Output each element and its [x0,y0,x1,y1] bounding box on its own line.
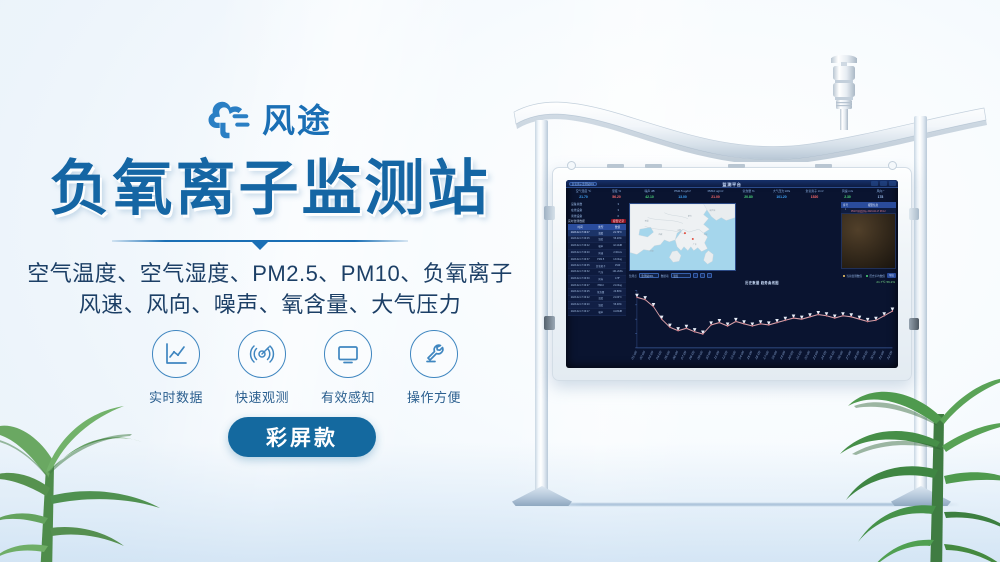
svg-text:32:00: 32:00 [886,350,893,361]
svg-text:31:00: 31:00 [878,350,885,361]
poster-canvas: 风途 负氧离子监测站 空气温度、空气湿度、PM2.5、PM10、负氧离子 风速、… [0,0,1000,562]
svg-text:19:00: 19:00 [779,350,786,361]
svg-text:28:00: 28:00 [854,350,861,361]
feature-label: 实时数据 [140,387,212,406]
metric-select[interactable]: 温度 [671,273,691,278]
fullscreen-icon[interactable] [889,181,896,186]
hinge-top [544,206,555,220]
chart-legend: 当前监测数值 历史平均数值 [843,274,885,278]
svg-text:22:00: 22:00 [804,350,811,361]
svg-text:05:00: 05:00 [664,350,671,361]
realtime-data-table[interactable]: 实时监测数据 报警记录 时间 类型 数值 2023-02-17 09:47温度2… [568,219,626,316]
stat-row: 离线设备 0 [571,214,619,218]
kpi-label: PM2.5 ug/m³ [667,189,698,193]
kpi-label: 氧含量 % [733,189,764,193]
left-text-panel: 风途 负氧离子监测站 空气温度、空气湿度、PM2.5、PM10、负氧离子 风速、… [0,0,540,562]
monitoring-station-kiosk: 负氧离子监测站001 监测平台 空气温度 ℃ 21.70 湿度 % 5 [500,0,1000,562]
latch-bottom [909,318,919,330]
stat-value: 3 [617,202,619,206]
dashboard-title: 监测平台 [566,182,898,188]
dashboard-ui: 负氧离子监测站001 监测平台 空气温度 ℃ 21.70 湿度 % 5 [566,180,898,368]
kpi-value: 20.80 [733,195,764,199]
svg-text:11:00: 11:00 [714,350,720,361]
kpi-card: 风速 m/s 2.30 [832,189,863,199]
settings-icon[interactable] [871,181,878,186]
brand-lockup: 风途 [0,100,540,140]
kpi-card: PM10 ug/m³ 21.00 [700,189,731,199]
svg-text:21:00: 21:00 [796,350,803,361]
svg-text:08:00: 08:00 [689,350,696,361]
table-row[interactable]: 2023-02-17 09:30风向178° [568,276,626,283]
svg-text:06:00: 06:00 [672,350,679,361]
table-caption-text: 实时监测数据 [568,219,585,223]
table-row[interactable]: 2023-02-17 09:42噪声42.10dB [568,243,626,250]
vent-slot [645,164,662,168]
svg-text:13:00: 13:00 [730,350,737,361]
stat-value: 0 [617,214,619,218]
svg-text:27:00: 27:00 [845,350,852,361]
device-stats: 设备总数 3 在线设备 3 离线设备 0 [571,202,619,221]
kpi-value: 21.70 [568,195,599,199]
range-week-button[interactable] [700,273,705,278]
subtitle-block: 空气温度、空气湿度、PM2.5、PM10、负氧离子 风速、风向、噪声、氧含量、大… [0,258,540,320]
kpi-value: 1520 [799,195,830,199]
svg-text:07:00: 07:00 [680,350,687,361]
kpi-card: 湿度 % 56.20 [601,189,632,199]
kpi-label: 负氧离子 /cm³ [799,189,830,193]
kpi-card: 风向 ° 178 [865,189,896,199]
svg-text:30:00: 30:00 [870,350,877,361]
vent-slot [728,164,745,168]
kpi-card: 大气压力 kPa 101.20 [766,189,797,199]
subtitle-line-1: 空气温度、空气湿度、PM2.5、PM10、负氧离子 [27,261,513,286]
legend-item-current: 当前监测数值 [843,274,862,278]
header-tools [871,181,896,186]
kpi-value: 56.20 [601,195,632,199]
kpi-card: 负氧离子 /cm³ 1520 [799,189,830,199]
svg-text:18:00: 18:00 [771,350,778,361]
svg-text:09:00: 09:00 [697,350,704,361]
alarm-badge[interactable]: 报警记录 [611,219,626,223]
table-caption: 实时监测数据 报警记录 [568,219,626,223]
svg-text:24:00: 24:00 [821,350,828,361]
control-label-right: 数据项 [661,274,669,278]
camera-snapshot[interactable] [841,213,896,269]
feature-item-easy-operation[interactable]: 操作方便 [398,330,470,406]
stat-label: 在线设备 [571,208,582,212]
mount-lug-right [888,161,897,170]
stat-row: 设备总数 3 [571,202,619,206]
kpi-card: 空气温度 ℃ 21.70 [568,189,599,199]
lcd-screen[interactable]: 负氧离子监测站001 监测平台 空气温度 ℃ 21.70 湿度 % 5 [566,180,898,368]
svg-text:14:00: 14:00 [738,350,745,361]
svg-text:16:00: 16:00 [755,350,762,361]
feature-label: 有效感知 [312,387,384,406]
svg-text:12:00: 12:00 [722,350,729,361]
table-row[interactable]: 2023-02-17 09:40风速2.30m/s [568,250,626,257]
kpi-label: 风速 m/s [832,189,863,193]
kpi-card: PM2.5 ug/m³ 13.00 [667,189,698,199]
kpi-label: 风向 ° [865,189,896,193]
feature-label: 操作方便 [398,387,470,406]
title-divider [112,240,408,242]
svg-text:26:00: 26:00 [837,350,844,361]
user-icon[interactable] [880,181,887,186]
table-row[interactable]: 2023-02-17 09:20湿度56.00% [568,302,626,309]
history-trend-chart: 历史数据 趋势曲线图 21.7℃ 56.2% 01:0002:0003:0004… [628,280,896,367]
wrench-icon [410,330,458,378]
right-post [914,116,927,502]
kpi-row: 空气温度 ℃ 21.70 湿度 % 56.20 噪声 dB 42.10 PM2.… [568,189,896,199]
stat-label: 离线设备 [571,214,582,218]
svg-text:15:00: 15:00 [746,350,753,361]
chart-plot: 01:0002:0003:0004:0005:0006:0007:0008:00… [628,285,896,367]
svg-text:10:00: 10:00 [705,350,712,361]
export-button[interactable]: 导出 [887,273,896,278]
legend-item-average: 历史平均数值 [866,274,885,278]
china-asia-region-map[interactable]: 蒙古中国 西藏日本 广东印度 新疆俄罗斯 [629,203,736,271]
left-post [535,120,548,502]
svg-text:17:00: 17:00 [763,350,770,361]
brand-name: 风途 [262,104,332,137]
kpi-value: 2.30 [832,195,863,199]
page-title: 负氧离子监测站 [0,155,540,222]
feature-item-effective-sensing[interactable]: 有效感知 [312,330,384,406]
monitor-display-icon [324,330,372,378]
svg-text:02:00: 02:00 [639,350,646,361]
svg-text:20:00: 20:00 [788,350,795,361]
mount-lug-left [567,161,576,170]
svg-text:23:00: 23:00 [812,350,819,361]
kpi-label: 噪声 dB [634,189,665,193]
feature-label: 快速观测 [226,387,298,406]
right-base-plate [891,486,951,506]
svg-text:03:00: 03:00 [648,350,655,361]
kpi-label: 湿度 % [601,189,632,193]
station-select[interactable]: 监测站001 [639,273,659,278]
divider-arrow-icon [251,241,269,250]
kpi-value: 101.20 [766,195,797,199]
vent-slot [607,164,624,168]
stat-label: 设备总数 [571,202,582,206]
kpi-card: 噪声 dB 42.10 [634,189,665,199]
table-row[interactable]: 2023-02-17 09:25氧含量20.80% [568,289,626,296]
kpi-label: PM10 ug/m³ [700,189,731,193]
svg-text:01:00: 01:00 [631,350,638,361]
left-base-plate [512,486,572,506]
chart-controls: 监测点 监测站001 数据项 温度 当前监测数值 历史平均数值 导出 [629,273,896,278]
stat-value: 3 [617,208,619,212]
table-row[interactable]: 2023-02-17 09:47温度21.70℃ [568,230,626,237]
kpi-value: 13.00 [667,195,698,199]
hinge-bottom [544,316,555,330]
line-chart-icon [152,330,200,378]
display-housing: 负氧离子监测站001 监测平台 空气温度 ℃ 21.70 湿度 % 5 [552,167,912,381]
control-label-left: 监测点 [629,274,637,278]
kpi-value: 21.00 [700,195,731,199]
table-row[interactable]: 2023-02-17 09:35负氧离子1520 [568,263,626,270]
kpi-value: 178 [865,195,896,199]
table-row[interactable]: 2023-02-17 09:22温度21.60℃ [568,296,626,303]
range-day-button[interactable] [693,273,698,278]
table-row[interactable]: 2023-02-17 09:32气压101.2kPa [568,269,626,276]
latch-top [909,208,919,220]
range-month-button[interactable] [707,273,712,278]
feature-item-realtime-data[interactable]: 实时数据 [140,330,212,406]
svg-text:29:00: 29:00 [862,350,869,361]
stat-row: 在线设备 3 [571,208,619,212]
radar-scan-icon [238,330,286,378]
feature-item-fast-observation[interactable]: 快速观测 [226,330,298,406]
kpi-label: 大气压力 kPa [766,189,797,193]
feature-list: 实时数据 快速观测 [140,330,470,406]
kpi-value: 42.10 [634,195,665,199]
svg-text:25:00: 25:00 [829,350,836,361]
table-row[interactable]: 2023-02-17 09:45湿度56.20% [568,237,626,244]
kpi-label: 空气温度 ℃ [568,189,599,193]
color-screen-model-button[interactable]: 彩屏款 [228,417,376,457]
chart-readout: 21.7℃ 56.2% [876,280,895,284]
svg-text:04:00: 04:00 [656,350,663,361]
table-row[interactable]: 2023-02-17 09:17噪声41.80dB [568,309,626,316]
vent-slot [815,164,832,168]
fengtu-cloud-wind-logo-icon [208,100,254,140]
kpi-card: 氧含量 % 20.80 [733,189,764,199]
subtitle-line-2: 风速、风向、噪声、氧含量、大气压力 [0,289,540,320]
